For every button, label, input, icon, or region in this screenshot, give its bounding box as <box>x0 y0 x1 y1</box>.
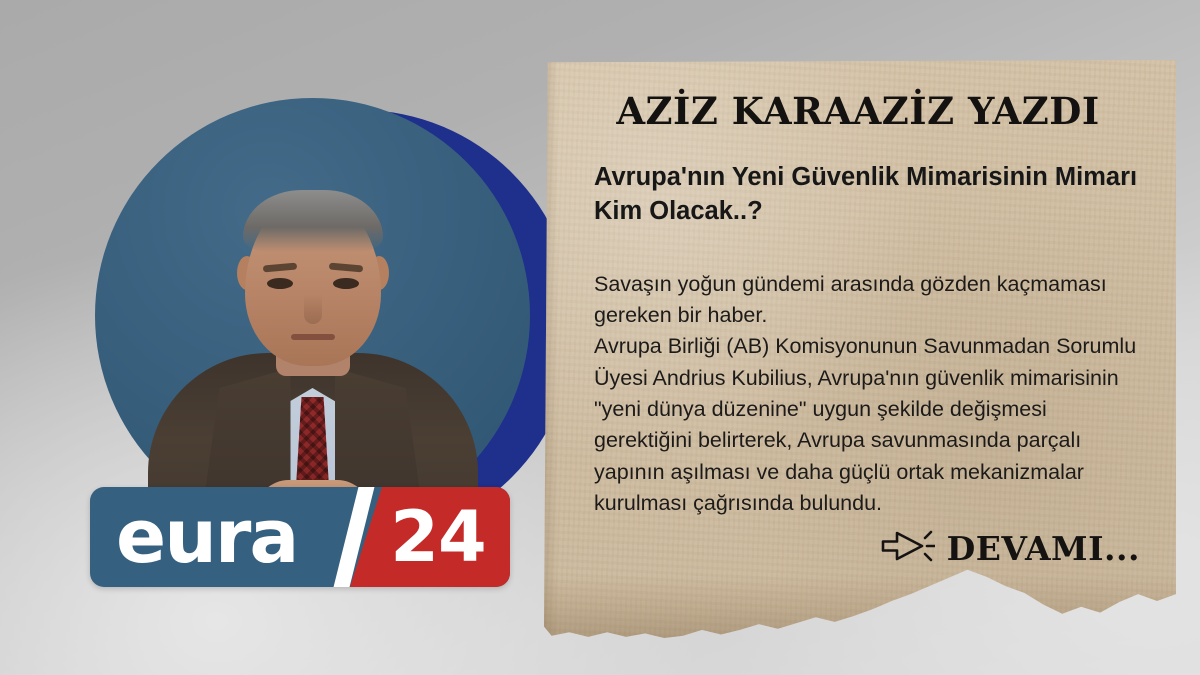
eye-right-shape <box>333 278 359 289</box>
torn-paper-card: AZİZ KARAAZİZ YAZDI Avrupa'nın Yeni Güve… <box>544 60 1176 638</box>
news-card-canvas: eura 24 AZİZ KARAAZİZ YAZDI Avrupa'nın Y… <box>0 0 1200 675</box>
read-more-cta[interactable]: DEVAMI... <box>881 529 1140 568</box>
logo-wordmark: eura <box>90 500 297 574</box>
body-paragraph: Avrupa Birliği (AB) Komisyonunun Savunma… <box>594 331 1142 519</box>
nose-shape <box>304 294 322 324</box>
body-paragraph: Savaşın yoğun gündemi arasında gözden ka… <box>594 269 1142 332</box>
logo-number-text: 24 <box>374 502 485 572</box>
mouth-shape <box>291 334 335 340</box>
logo-number-badge: 24 <box>350 487 510 587</box>
eura24-logo[interactable]: eura 24 <box>90 487 510 587</box>
article-subheadline: Avrupa'nın Yeni Güvenlik Mimarisinin Mim… <box>594 161 1142 228</box>
page-title: AZİZ KARAAZİZ YAZDI <box>574 92 1142 131</box>
article-body: Savaşın yoğun gündemi arasında gözden ka… <box>594 269 1142 520</box>
arrow-right-click-icon <box>881 529 935 568</box>
read-more-label: DEVAMI... <box>947 532 1140 565</box>
hair-shape <box>243 190 383 252</box>
eye-left-shape <box>267 278 293 289</box>
